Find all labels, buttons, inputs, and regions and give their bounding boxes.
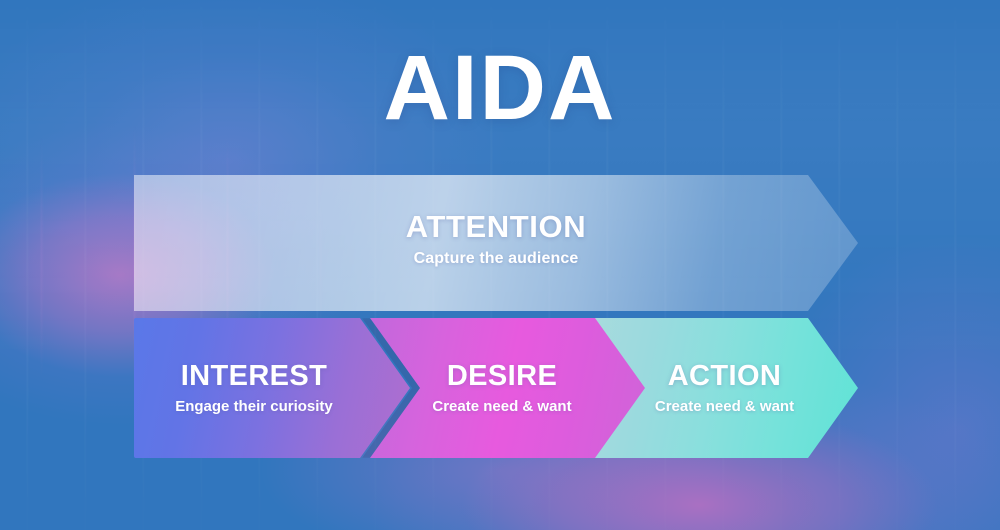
step-description-action: Create need & want: [655, 398, 794, 415]
step-description-interest: Engage their curiosity: [175, 398, 333, 415]
step-label-action: ACTION: [655, 361, 794, 391]
aida-infographic: AIDA ATTENTION Capture the audience INTE…: [0, 0, 1000, 530]
page-title: AIDA: [0, 42, 1000, 134]
attention-banner-label: ATTENTION: [159, 210, 833, 244]
attention-banner[interactable]: ATTENTION Capture the audience: [134, 175, 858, 311]
step-chevron-action[interactable]: ACTION Create need & want: [595, 318, 858, 458]
step-label-interest: INTEREST: [175, 361, 333, 391]
step-label-desire: DESIRE: [432, 361, 571, 391]
step-chevron-interest[interactable]: INTEREST Engage their curiosity: [134, 318, 410, 458]
step-description-desire: Create need & want: [432, 398, 571, 415]
attention-banner-description: Capture the audience: [159, 250, 833, 268]
